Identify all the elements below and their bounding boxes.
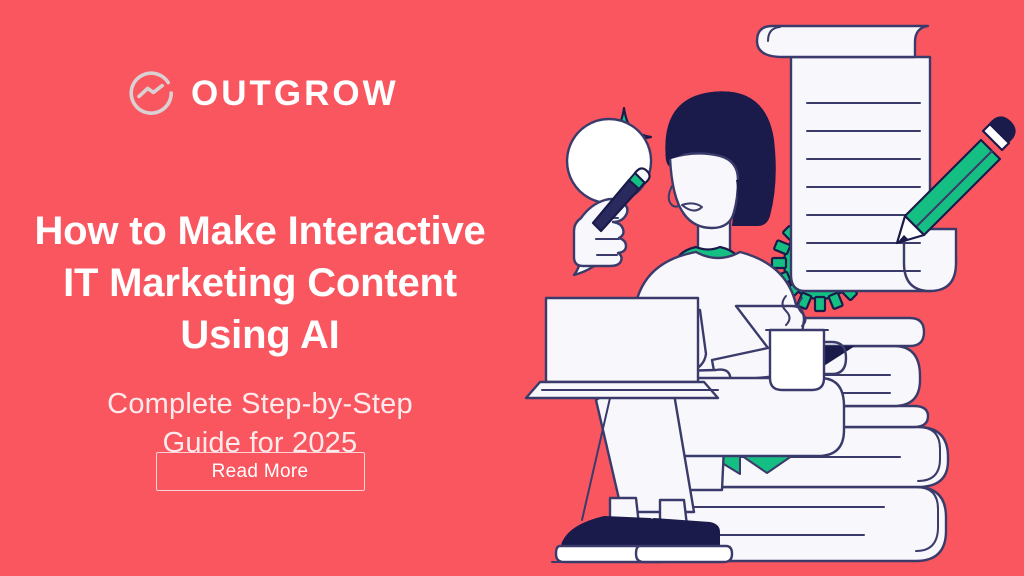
headline: How to Make Interactive IT Marketing Con… — [0, 205, 520, 361]
outgrow-circle-mark-icon — [128, 69, 176, 117]
read-more-button[interactable]: Read More — [156, 452, 365, 491]
subheading: Complete Step-by-Step Guide for 2025 — [0, 385, 520, 462]
headline-line-1: How to Make Interactive — [8, 205, 512, 257]
laptop-icon — [526, 298, 718, 398]
brand-wordmark: OUTGROW — [191, 76, 399, 111]
scroll-document-icon — [757, 26, 956, 311]
brand-logo[interactable]: OUTGROW — [128, 69, 399, 117]
subheading-line-1: Complete Step-by-Step — [8, 385, 512, 424]
hero-illustration: .ln { fill:none; stroke:#3B3B6B; stroke-… — [500, 0, 1024, 576]
cta-container: Read More — [0, 452, 520, 491]
content-column: OUTGROW How to Make Interactive IT Marke… — [0, 0, 530, 576]
headline-line-3: Using AI — [8, 309, 512, 361]
speech-bubble-hand-writing-icon — [567, 119, 651, 275]
blog-banner: OUTGROW How to Make Interactive IT Marke… — [0, 0, 1024, 576]
headline-line-2: IT Marketing Content — [8, 257, 512, 309]
